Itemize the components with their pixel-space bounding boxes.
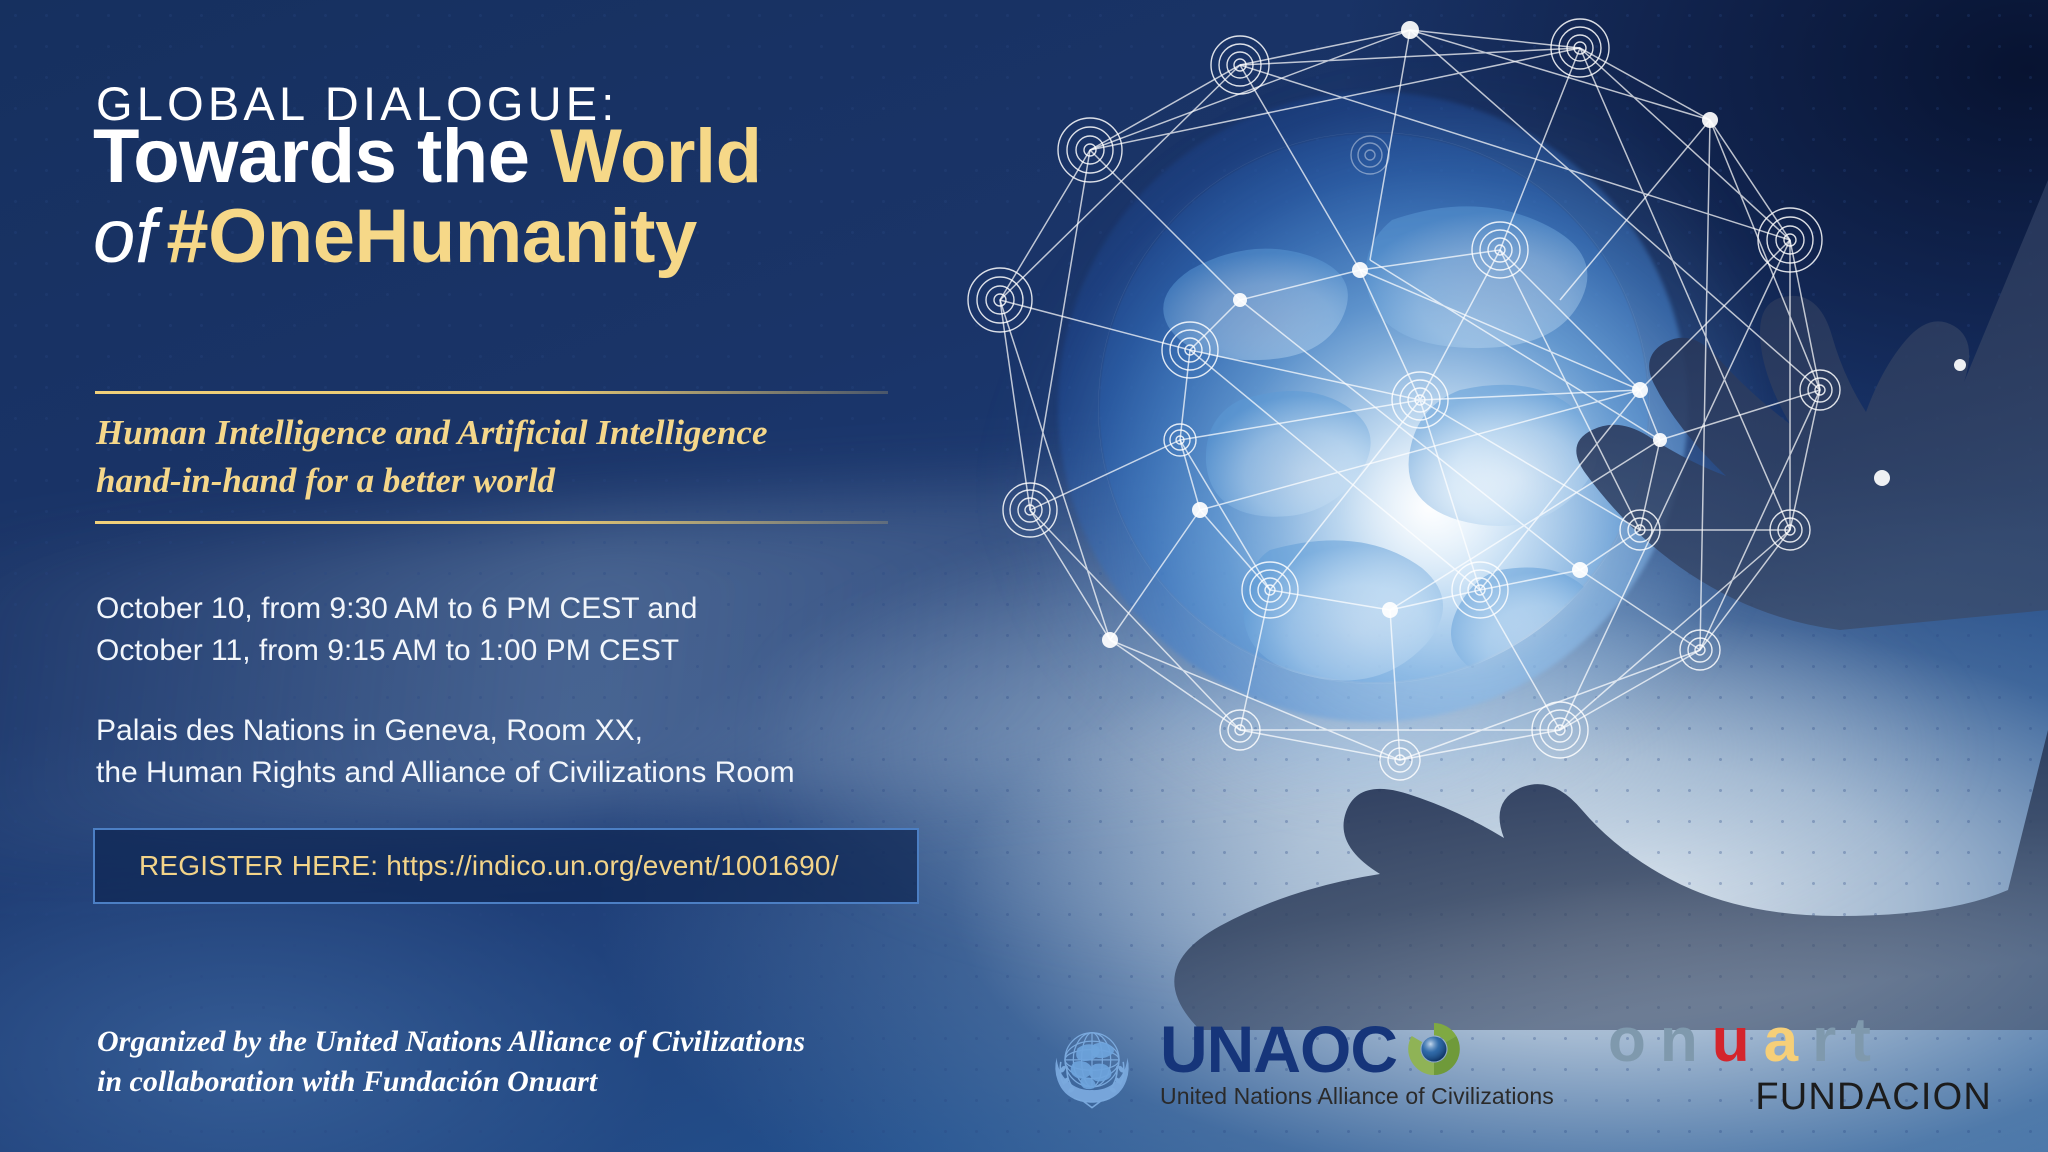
- register-link[interactable]: REGISTER HERE: https://indico.un.org/eve…: [95, 850, 839, 882]
- event-poster: GLOBAL DIALOGUE: Towards the World of#On…: [0, 0, 2048, 1152]
- unaoc-subtitle: United Nations Alliance of Civilizations: [1160, 1083, 1554, 1110]
- organizer-credit: Organized by the United Nations Alliance…: [97, 1022, 805, 1102]
- tagline: Human Intelligence and Artificial Intell…: [96, 409, 896, 504]
- onuart-logo: onuart FUNDACION: [1608, 1010, 1998, 1119]
- un-emblem-icon: [1040, 1012, 1144, 1116]
- unaoc-acronym: UNAOC: [1160, 1018, 1397, 1081]
- venue-line-1: Palais des Nations in Geneva, Room XX,: [96, 710, 795, 752]
- tagline-line-2: hand-in-hand for a better world: [96, 457, 896, 505]
- credit-line-1: Organized by the United Nations Alliance…: [97, 1022, 805, 1062]
- onuart-wordmark: onuart: [1608, 1010, 1998, 1072]
- tagline-line-1: Human Intelligence and Artificial Intell…: [96, 409, 896, 457]
- globe-network-artwork: [940, 0, 2048, 1030]
- title-line-2: of#OneHumanity: [93, 198, 913, 276]
- unaoc-circle-mark-icon: [1403, 1018, 1465, 1080]
- onuart-letter-n: n: [1660, 1006, 1712, 1075]
- register-box[interactable]: REGISTER HERE: https://indico.un.org/eve…: [93, 828, 919, 904]
- poster-content: GLOBAL DIALOGUE: Towards the World of#On…: [0, 0, 960, 1152]
- network-mesh-overlay: [940, 0, 2048, 1030]
- onuart-subtitle: FUNDACION: [1608, 1076, 1998, 1119]
- title-of-word: of: [93, 194, 166, 279]
- unaoc-text-block: UNAOC United Nations: [1160, 1018, 1554, 1110]
- credit-line-2: in collaboration with Fundación Onuart: [97, 1062, 805, 1102]
- onuart-letter-u: u: [1712, 1006, 1764, 1075]
- onuart-letter-t: t: [1850, 1006, 1885, 1075]
- event-dates: October 10, from 9:30 AM to 6 PM CEST an…: [96, 588, 795, 672]
- onuart-letter-r: r: [1812, 1006, 1850, 1075]
- unaoc-logo: UNAOC United Nations: [1040, 1012, 1554, 1116]
- title-hashtag: #OneHumanity: [166, 194, 696, 279]
- unaoc-acronym-row: UNAOC: [1160, 1018, 1554, 1081]
- title-gold-part: World: [550, 114, 761, 199]
- date-line-2: October 11, from 9:15 AM to 1:00 PM CEST: [96, 630, 795, 672]
- divider-top: [95, 391, 888, 394]
- event-venue: Palais des Nations in Geneva, Room XX, t…: [96, 710, 795, 794]
- page-title: Towards the World of#OneHumanity: [93, 118, 913, 277]
- onuart-letter-a: a: [1764, 1006, 1812, 1075]
- title-white-part: Towards the: [93, 114, 550, 199]
- date-line-1: October 10, from 9:30 AM to 6 PM CEST an…: [96, 588, 795, 630]
- divider-bottom: [95, 521, 888, 524]
- venue-line-2: the Human Rights and Alliance of Civiliz…: [96, 752, 795, 794]
- event-details: October 10, from 9:30 AM to 6 PM CEST an…: [96, 588, 795, 794]
- onuart-letter-o: o: [1608, 1006, 1660, 1075]
